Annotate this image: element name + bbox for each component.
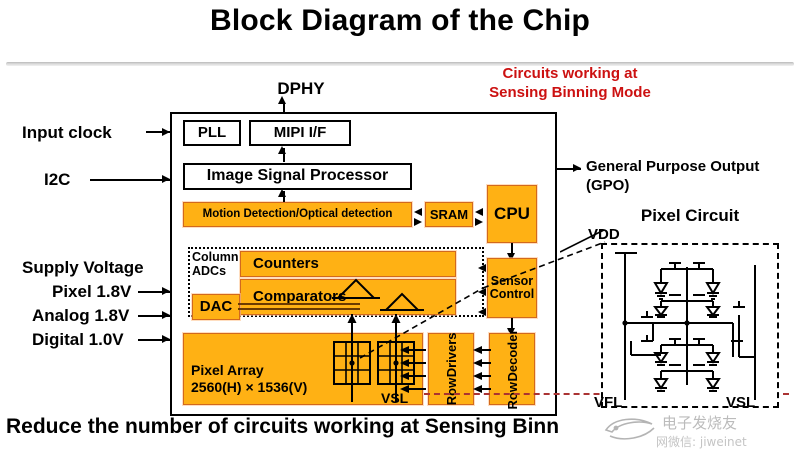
column-adcs-label: Column ADCs (192, 250, 246, 278)
block-motion-detection-label: Motion Detection/Optical detection (203, 208, 393, 220)
gpo-label: General Purpose Output (GPO) (586, 157, 796, 195)
sram-cpu-arrow-left-icon (475, 208, 483, 216)
mode-note-line1: Circuits working at (430, 64, 710, 83)
motion-isp-arrow-icon (278, 189, 286, 197)
i2c-line (90, 179, 170, 181)
watermark-text: 电子发烧友 (662, 414, 737, 432)
watermark: 电子发烧友 网微信: jiweinet (600, 408, 800, 455)
block-pll[interactable]: PLL (183, 120, 241, 146)
pixel-circuit-callout-lines (355, 236, 610, 366)
pixel-array-line1: Pixel Array (191, 362, 307, 379)
watermark-subtext: 网微信: jiweinet (656, 435, 747, 449)
mipi-isp-arrow-icon (278, 146, 286, 154)
input-clock-arrow-icon (162, 128, 170, 136)
block-sram[interactable]: SRAM (425, 202, 473, 227)
input-clock-label: Input clock (22, 123, 112, 143)
block-sram-label: SRAM (430, 208, 468, 222)
analog-supply-arrow-icon (162, 311, 170, 319)
pixel-supply-label: Pixel 1.8V (52, 282, 131, 302)
block-mipi-if[interactable]: MIPI I/F (249, 120, 351, 146)
gpo-label-line1: General Purpose Output (586, 157, 796, 176)
pixel-array-line2: 2560(H) × 1536(V) (191, 379, 307, 396)
motion-sram-arrow-left-icon (414, 208, 422, 216)
vdd-label: VDD (588, 226, 620, 243)
block-image-signal-processor[interactable]: Image Signal Processor (183, 163, 412, 190)
row-drivers-line1: Row (444, 378, 459, 405)
block-dac-label: DAC (200, 299, 233, 315)
i2c-label: I2C (44, 170, 70, 190)
block-cpu[interactable]: CPU (487, 185, 537, 243)
block-dac[interactable]: DAC (192, 294, 240, 320)
dphy-label: DPHY (256, 79, 346, 99)
pixel-circuit-schematic (603, 245, 777, 406)
block-isp-label: Image Signal Processor (207, 168, 388, 185)
i2c-arrow-icon (162, 175, 170, 183)
mode-note-line2: Sensing Binning Mode (430, 83, 710, 102)
dphy-arrow-icon (278, 96, 286, 104)
column-adcs-line1: Column (192, 250, 246, 264)
motion-sram-arrow-right-icon (414, 218, 422, 226)
sram-cpu-arrow-right-icon (475, 218, 483, 226)
block-mipi-if-label: MIPI I/F (274, 125, 327, 141)
block-counters-label: Counters (253, 256, 319, 272)
pixel-array-caption: Pixel Array 2560(H) × 1536(V) (191, 362, 307, 396)
digital-supply-arrow-icon (162, 335, 170, 343)
gpo-label-line2: (GPO) (586, 176, 796, 195)
row-decoder-line1: Row (505, 382, 520, 409)
block-pll-label: PLL (198, 125, 226, 141)
analog-supply-label: Analog 1.8V (32, 306, 129, 326)
page-title: Block Diagram of the Chip (0, 4, 800, 38)
block-cpu-label: CPU (494, 205, 530, 223)
gpo-arrow-icon (573, 164, 581, 172)
digital-supply-label: Digital 1.0V (32, 330, 124, 350)
sensing-binning-note: Circuits working at Sensing Binning Mode (430, 64, 710, 102)
block-motion-detection[interactable]: Motion Detection/Optical detection (183, 202, 412, 227)
pixel-supply-arrow-icon (162, 287, 170, 295)
pixel-circuit-title: Pixel Circuit (590, 206, 790, 226)
column-adcs-line2: ADCs (192, 264, 246, 278)
supply-voltage-label: Supply Voltage (22, 258, 144, 278)
